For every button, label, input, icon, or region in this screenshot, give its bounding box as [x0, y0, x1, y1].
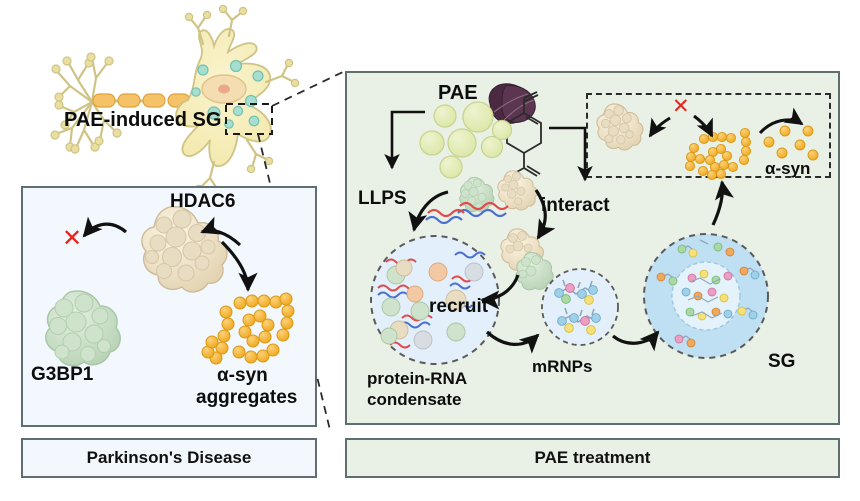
recruit-label: recruit: [429, 297, 488, 317]
parkinsons-disease-label-bar: Parkinson's Disease: [21, 438, 317, 478]
g3bp1-label: G3BP1: [31, 365, 93, 385]
condensate-label-line2: condensate: [367, 391, 461, 409]
inset-blocked-cross-icon: ✕: [672, 96, 690, 118]
hdac6-label: HDAC6: [170, 192, 235, 212]
neuron-label: PAE-induced SG: [64, 110, 221, 131]
pd-bar-text: Parkinson's Disease: [87, 448, 252, 468]
sg-label: SG: [768, 352, 795, 372]
asyn-aggregates-label-line1: α-syn: [217, 366, 268, 386]
pae-bar-text: PAE treatment: [535, 448, 651, 468]
callout-line-top: [272, 71, 345, 106]
condensate-label-line1: protein-RNA: [367, 370, 467, 388]
pae-treatment-label-bar: PAE treatment: [345, 438, 840, 478]
asyn-aggregates-label-line2: aggregates: [196, 388, 297, 408]
mrnps-label: mRNPs: [532, 358, 592, 376]
soma-zoom-selection: [226, 104, 272, 134]
llps-label: LLPS: [358, 189, 407, 209]
blocked-cross-icon: ✕: [62, 226, 82, 251]
inset-asyn-label: α-syn: [765, 160, 810, 178]
pae-label: PAE: [438, 83, 478, 104]
interact-label: interact: [541, 196, 610, 216]
